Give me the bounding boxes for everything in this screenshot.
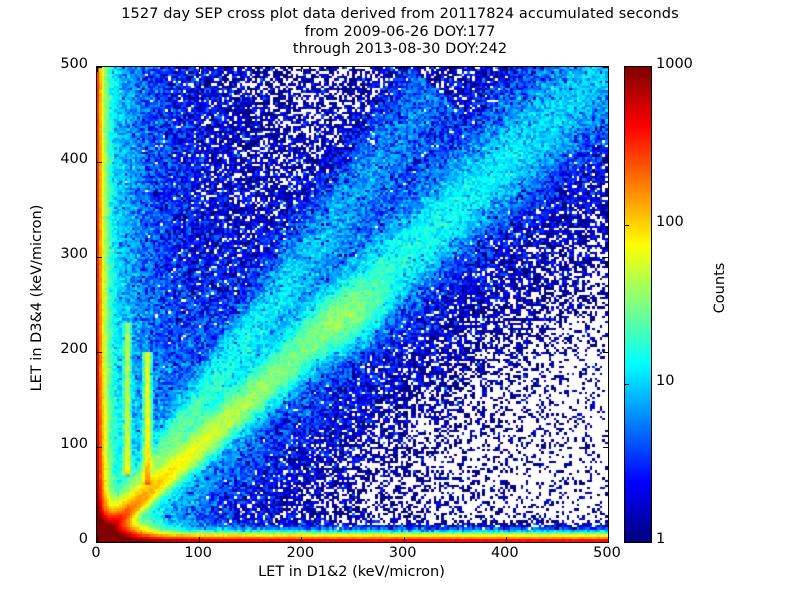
x-tick-top bbox=[608, 67, 609, 72]
y-tick-label: 0 bbox=[28, 531, 88, 547]
y-tick bbox=[97, 67, 102, 68]
colorbar-label: Counts bbox=[712, 198, 728, 378]
plot-title: 1527 day SEP cross plot data derived fro… bbox=[0, 6, 800, 59]
figure-canvas: 1527 day SEP cross plot data derived fro… bbox=[0, 0, 800, 600]
x-tick-label: 0 bbox=[66, 545, 126, 561]
plot-axes bbox=[96, 66, 609, 543]
x-tick bbox=[404, 537, 405, 542]
x-tick-top bbox=[199, 67, 200, 72]
y-tick-right bbox=[603, 542, 608, 543]
y-tick-right bbox=[603, 162, 608, 163]
y-tick bbox=[97, 352, 102, 353]
y-tick bbox=[97, 542, 102, 543]
y-tick-label: 500 bbox=[28, 56, 88, 72]
y-tick-right bbox=[603, 67, 608, 68]
x-tick-label: 100 bbox=[168, 545, 228, 561]
x-tick-label: 400 bbox=[475, 545, 535, 561]
x-tick bbox=[301, 537, 302, 542]
colorbar-gradient bbox=[625, 67, 651, 542]
colorbar-tick bbox=[625, 384, 629, 385]
title-line-1: 1527 day SEP cross plot data derived fro… bbox=[0, 6, 800, 24]
x-tick bbox=[506, 537, 507, 542]
colorbar-tick-label: 100 bbox=[656, 214, 684, 230]
y-tick bbox=[97, 257, 102, 258]
x-tick-top bbox=[404, 67, 405, 72]
colorbar bbox=[624, 66, 652, 543]
colorbar-tick-label: 1 bbox=[656, 531, 665, 547]
x-tick-top bbox=[301, 67, 302, 72]
colorbar-tick-label: 1000 bbox=[656, 56, 693, 72]
y-tick bbox=[97, 447, 102, 448]
colorbar-tick-label: 10 bbox=[656, 373, 674, 389]
y-tick-right bbox=[603, 352, 608, 353]
x-axis-label: LET in D1&2 (keV/micron) bbox=[96, 564, 607, 580]
x-tick bbox=[199, 537, 200, 542]
x-tick-label: 500 bbox=[577, 545, 637, 561]
x-tick-label: 300 bbox=[373, 545, 433, 561]
x-tick-top bbox=[506, 67, 507, 72]
x-tick bbox=[608, 537, 609, 542]
colorbar-tick bbox=[625, 225, 629, 226]
y-tick-right bbox=[603, 257, 608, 258]
y-axis-label: LET in D3&4 (keV/micron) bbox=[29, 128, 45, 468]
title-line-2: from 2009-06-26 DOY:177 bbox=[0, 24, 800, 42]
x-tick-label: 200 bbox=[270, 545, 330, 561]
y-tick bbox=[97, 162, 102, 163]
y-tick-right bbox=[603, 447, 608, 448]
scatter-density-plot bbox=[97, 67, 608, 542]
